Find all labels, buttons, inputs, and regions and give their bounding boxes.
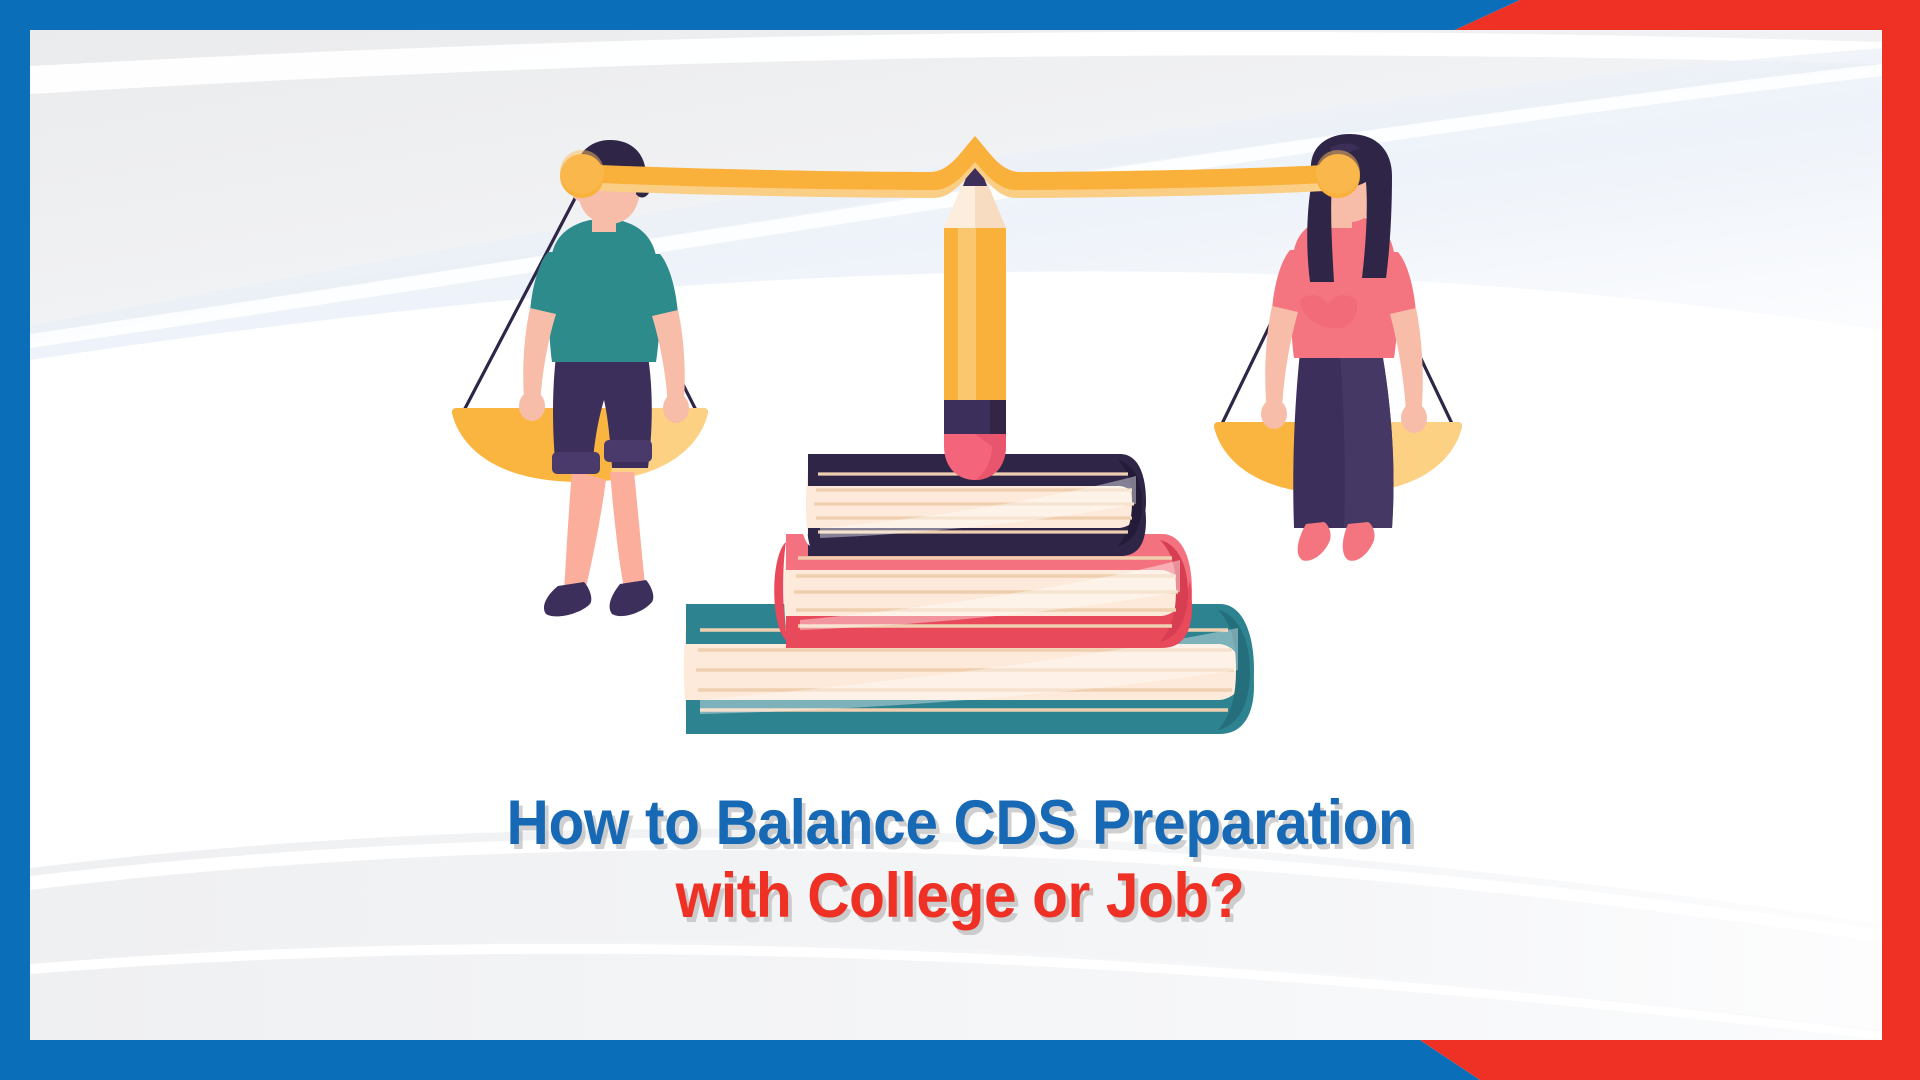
scale-beam <box>560 136 1360 198</box>
pencil-fulcrum <box>944 160 1006 480</box>
male-student <box>519 140 689 616</box>
banner-title: How to Balance CDS Preparation with Coll… <box>0 790 1920 931</box>
promo-banner: How to Balance CDS Preparation with Coll… <box>0 0 1920 1080</box>
title-line-2: with College or Job? <box>67 863 1853 930</box>
female-student <box>1261 134 1427 561</box>
book-stack <box>674 454 1254 734</box>
title-line-1: How to Balance CDS Preparation <box>67 790 1853 857</box>
